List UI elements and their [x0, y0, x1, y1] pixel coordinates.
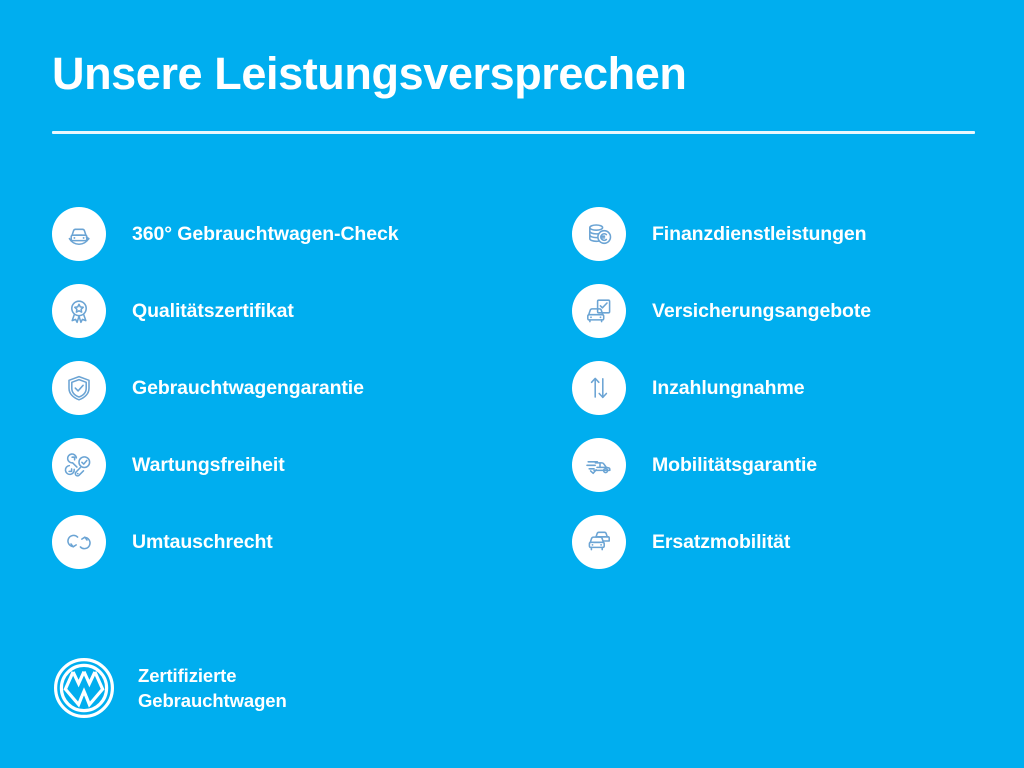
- feature-label: Gebrauchtwagengarantie: [132, 376, 364, 400]
- slide-root: Unsere Leistungsversprechen 3: [0, 0, 1024, 768]
- feature-item-umtauschrecht[interactable]: Umtauschrecht: [52, 503, 512, 580]
- feature-item-versicherungsangebote[interactable]: Versicherungsangebote: [572, 272, 1024, 349]
- coins-euro-icon: [572, 207, 626, 261]
- feature-label: Finanzdienstleistungen: [652, 222, 866, 246]
- wrench-check-icon: [52, 438, 106, 492]
- two-cars-icon: [572, 515, 626, 569]
- shield-check-icon: [52, 361, 106, 415]
- feature-item-inzahlungnahme[interactable]: Inzahlungnahme: [572, 349, 1024, 426]
- feature-label: 360° Gebrauchtwagen-Check: [132, 222, 398, 246]
- award-rosette-icon: [52, 284, 106, 338]
- brand-text-line1: Zertifizierte: [138, 663, 287, 688]
- feature-label: Umtauschrecht: [132, 530, 273, 554]
- feature-item-qualitaetszertifikat[interactable]: Qualitätszertifikat: [52, 272, 512, 349]
- feature-label: Versicherungsangebote: [652, 299, 871, 323]
- feature-item-gebrauchtwagen-check[interactable]: 360° Gebrauchtwagen-Check: [52, 195, 512, 272]
- brand-text-line2: Gebrauchtwagen: [138, 688, 287, 713]
- brand-text: Zertifizierte Gebrauchtwagen: [138, 663, 287, 713]
- car-document-check-icon: [572, 284, 626, 338]
- exchange-arrows-icon: [52, 515, 106, 569]
- title-divider: [52, 131, 975, 134]
- feature-item-wartungsfreiheit[interactable]: Wartungsfreiheit: [52, 426, 512, 503]
- feature-item-gebrauchtwagengarantie[interactable]: Gebrauchtwagengarantie: [52, 349, 512, 426]
- car-motion-icon: [572, 438, 626, 492]
- brand-lockup: Zertifizierte Gebrauchtwagen: [52, 656, 287, 720]
- features-section: 360° Gebrauchtwagen-Check Qualitätszerti…: [0, 195, 1024, 575]
- page-title: Unsere Leistungsversprechen: [52, 48, 976, 100]
- feature-label: Mobilitätsgarantie: [652, 453, 817, 477]
- feature-label: Qualitätszertifikat: [132, 299, 294, 323]
- volkswagen-logo-icon: [52, 656, 116, 720]
- feature-label: Wartungsfreiheit: [132, 453, 285, 477]
- feature-item-ersatzmobilitaet[interactable]: Ersatzmobilität: [572, 503, 1024, 580]
- feature-label: Inzahlungnahme: [652, 376, 804, 400]
- car-360-check-icon: [52, 207, 106, 261]
- feature-label: Ersatzmobilität: [652, 530, 790, 554]
- arrows-up-down-icon: [572, 361, 626, 415]
- header: Unsere Leistungsversprechen: [52, 48, 976, 100]
- feature-column-left: 360° Gebrauchtwagen-Check Qualitätszerti…: [52, 195, 512, 580]
- feature-column-right: Finanzdienstleistungen Versicheru: [572, 195, 1024, 580]
- feature-item-finanzdienstleistungen[interactable]: Finanzdienstleistungen: [572, 195, 1024, 272]
- feature-item-mobilitaetsgarantie[interactable]: Mobilitätsgarantie: [572, 426, 1024, 503]
